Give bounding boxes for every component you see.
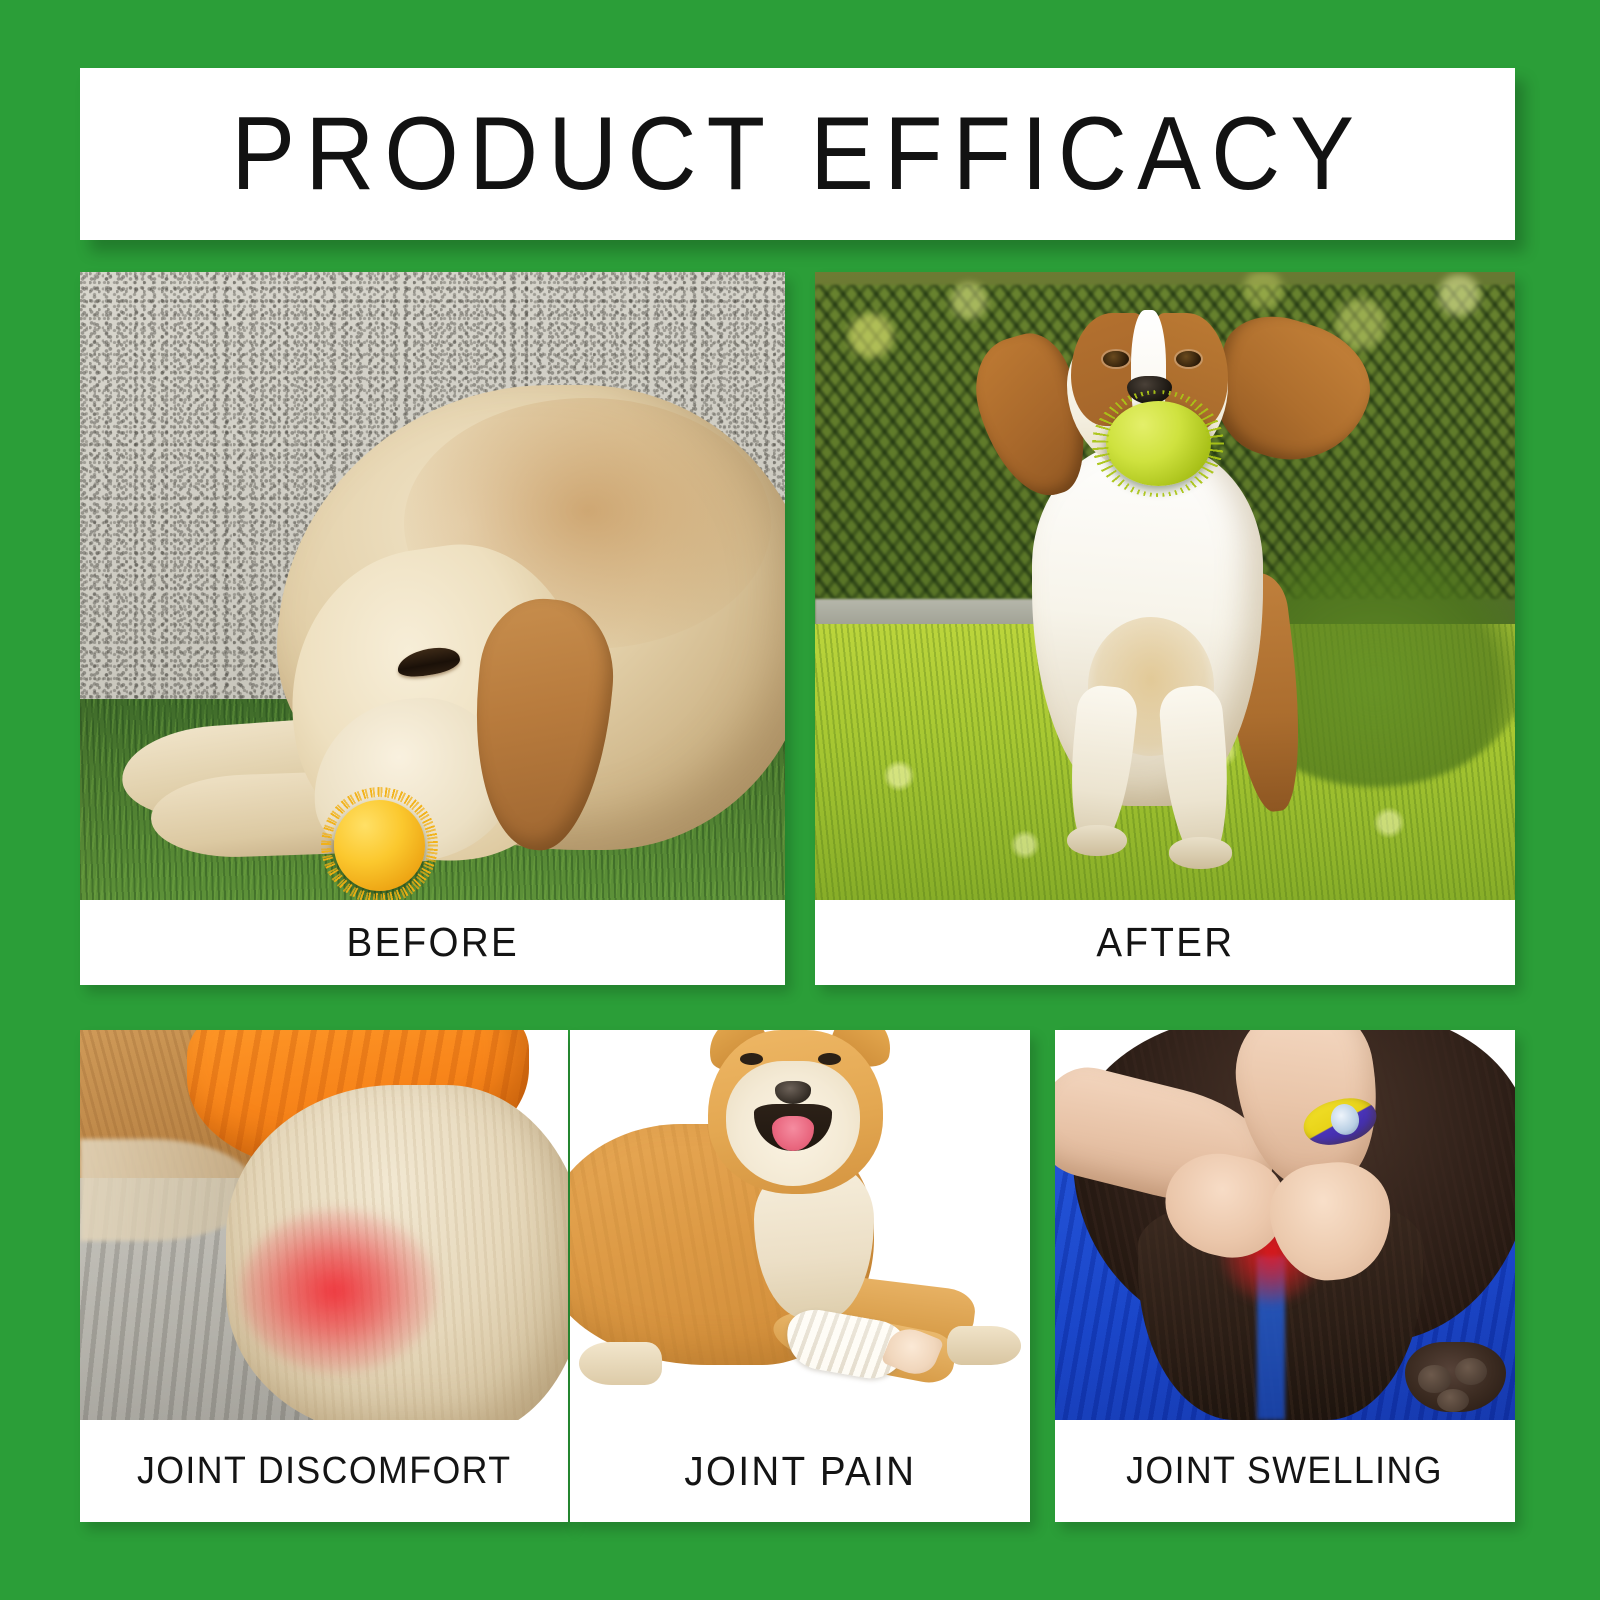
dog-front-paw xyxy=(947,1326,1021,1365)
after-card: AFTER xyxy=(815,272,1515,985)
dog-paw-right xyxy=(1169,837,1232,868)
joint-pain-photo xyxy=(570,1030,1030,1420)
symptom-card-joint-swelling: JOINT SWELLING xyxy=(1055,1030,1515,1522)
symptom-card-joint-discomfort: JOINT DISCOMFORT xyxy=(80,1030,568,1522)
dog-eye-left xyxy=(1103,351,1128,367)
dog-paw-left xyxy=(1067,825,1127,856)
before-scene xyxy=(80,272,785,900)
symptom-card-joint-pain: JOINT PAIN xyxy=(570,1030,1030,1522)
after-photo xyxy=(815,272,1515,900)
joint-pain-caption-bar: JOINT PAIN xyxy=(570,1420,1030,1522)
paw-pad xyxy=(1418,1365,1450,1392)
joint-discomfort-caption-text: JOINT DISCOMFORT xyxy=(137,1450,511,1493)
after-scene xyxy=(815,272,1515,900)
dog-hind-paw xyxy=(579,1342,662,1385)
spiky-ball-toy xyxy=(1106,401,1211,486)
joint-discomfort-caption-bar: JOINT DISCOMFORT xyxy=(80,1420,568,1522)
after-caption-text: AFTER xyxy=(1096,919,1234,966)
inflammation-highlight xyxy=(241,1209,436,1373)
joint-swelling-caption-text: JOINT SWELLING xyxy=(1127,1450,1444,1493)
paw-pad xyxy=(1437,1389,1469,1412)
page-title: PRODUCT EFFICACY xyxy=(231,95,1364,214)
joint-pain-caption-text: JOINT PAIN xyxy=(684,1448,916,1495)
paw-pad xyxy=(1455,1358,1487,1385)
dog-eye-right xyxy=(1176,351,1201,367)
before-card: BEFORE xyxy=(80,272,785,985)
joint-swelling-photo xyxy=(1055,1030,1515,1420)
joint-pain-scene xyxy=(570,1030,1030,1420)
after-caption-bar: AFTER xyxy=(815,900,1515,985)
spiky-ball-toy xyxy=(334,800,426,891)
joint-discomfort-photo xyxy=(80,1030,568,1420)
joint-swelling-caption-bar: JOINT SWELLING xyxy=(1055,1420,1515,1522)
joint-discomfort-scene xyxy=(80,1030,568,1420)
joint-swelling-scene xyxy=(1055,1030,1515,1420)
before-photo xyxy=(80,272,785,900)
before-caption-bar: BEFORE xyxy=(80,900,785,985)
page-title-bar: PRODUCT EFFICACY xyxy=(80,68,1515,240)
before-caption-text: BEFORE xyxy=(346,919,519,966)
